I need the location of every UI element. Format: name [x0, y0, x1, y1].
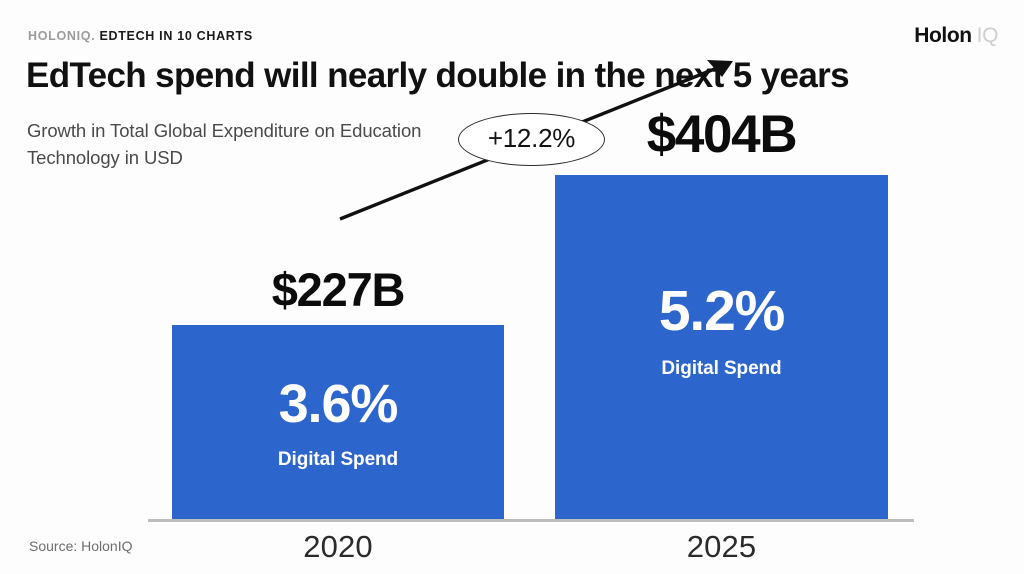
- holoniq-logo: HolonIQ: [914, 24, 998, 48]
- bar-2025-inner-labels: 5.2% Digital Spend: [555, 283, 888, 380]
- logo-primary-text: Holon: [914, 24, 971, 47]
- bar-2020-inner-labels: 3.6% Digital Spend: [172, 377, 504, 471]
- bar-2025: 5.2% Digital Spend: [555, 175, 888, 520]
- bar-2020-digital-caption: Digital Spend: [172, 449, 504, 471]
- bar-value-label-2020: $227B: [172, 262, 504, 317]
- x-axis-label-2020: 2020: [172, 529, 504, 565]
- x-axis-label-2025: 2025: [555, 529, 888, 565]
- eyebrow-brand: HOLONIQ.: [28, 29, 95, 43]
- page-title: EdTech spend will nearly double in the n…: [26, 55, 849, 97]
- source-note: Source: HolonIQ: [29, 538, 133, 554]
- bar-2025-digital-caption: Digital Spend: [555, 358, 888, 380]
- bar-2020: 3.6% Digital Spend: [172, 325, 504, 520]
- bar-value-label-2025: $404B: [555, 104, 888, 165]
- bar-2020-digital-percent: 3.6%: [172, 377, 504, 431]
- x-axis-line: [148, 519, 914, 522]
- slide-canvas: HOLONIQ. EDTECH IN 10 CHARTS HolonIQ EdT…: [0, 0, 1024, 574]
- bar-2025-digital-percent: 5.2%: [555, 283, 888, 340]
- page-subtitle: Growth in Total Global Expenditure on Ed…: [27, 118, 457, 172]
- logo-secondary-text: IQ: [977, 24, 998, 47]
- eyebrow-series: EDTECH IN 10 CHARTS: [99, 29, 252, 43]
- eyebrow: HOLONIQ. EDTECH IN 10 CHARTS: [28, 29, 253, 43]
